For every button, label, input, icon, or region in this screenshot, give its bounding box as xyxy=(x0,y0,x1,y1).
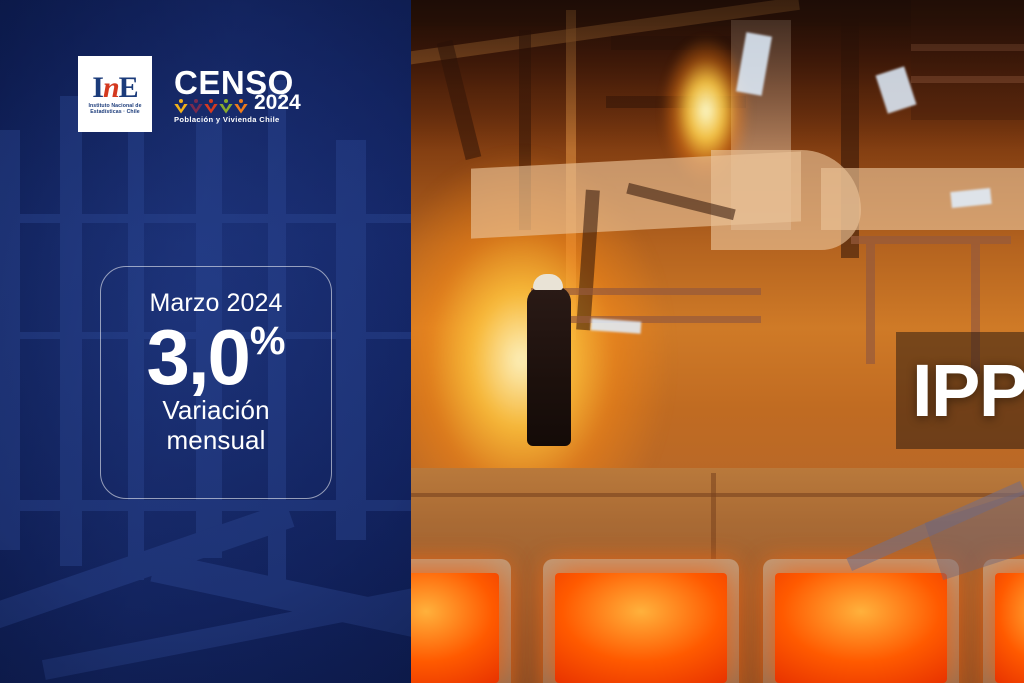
photo-rail xyxy=(866,244,875,364)
stat-value: 3,0 xyxy=(146,315,248,399)
photo-mold xyxy=(983,559,1024,683)
title-overlay-band: IPP ÍNDICES DE PRECIOS DE PRODUCTOR xyxy=(896,332,1024,449)
foundry-photo: IPP ÍNDICES DE PRECIOS DE PRODUCTOR xyxy=(411,0,1024,683)
censo-tagline: Población y Vivienda Chile xyxy=(174,115,301,124)
ine-letter-n: n xyxy=(103,71,119,104)
ine-letter-e: E xyxy=(119,71,138,104)
ine-logo: InE Instituto Nacional de Estadísticas ·… xyxy=(78,56,152,132)
censo-people-icon xyxy=(174,99,251,114)
left-info-panel: InE Instituto Nacional de Estadísticas ·… xyxy=(0,0,411,683)
stat-description: Variación mensual xyxy=(162,395,269,455)
stat-value-row: 3,0 % xyxy=(146,315,285,399)
photo-mold xyxy=(543,559,739,683)
poster-canvas: InE Instituto Nacional de Estadísticas ·… xyxy=(0,0,1024,683)
page-title: IPP xyxy=(912,354,1024,428)
photo-mold xyxy=(763,559,959,683)
person-icon-4 xyxy=(219,99,233,114)
photo-floor-seam xyxy=(411,493,1024,497)
logo-row: InE Instituto Nacional de Estadísticas ·… xyxy=(0,56,411,132)
photo-platform xyxy=(821,168,1024,230)
photo-worker xyxy=(527,286,571,446)
censo-logo: CENSO 2024 Población y Vivienda Chile xyxy=(174,65,301,124)
stat-description-line1: Variación xyxy=(162,395,269,425)
censo-year: 2024 xyxy=(254,92,301,114)
person-icon-3 xyxy=(204,99,218,114)
ine-wordmark: InE xyxy=(92,74,137,102)
stat-unit-percent: % xyxy=(250,319,286,363)
person-icon-1 xyxy=(174,99,188,114)
stat-description-line2: mensual xyxy=(162,425,269,455)
photo-rail xyxy=(851,236,1011,244)
photo-mold xyxy=(411,559,511,683)
statistic-card: Marzo 2024 3,0 % Variación mensual xyxy=(100,266,332,499)
ine-letter-i: I xyxy=(92,71,103,104)
person-icon-5 xyxy=(234,99,248,114)
ine-subtitle-line2: Estadísticas · Chile xyxy=(82,109,148,115)
ine-subtitle: Instituto Nacional de Estadísticas · Chi… xyxy=(82,103,148,116)
person-icon-2 xyxy=(189,99,203,114)
